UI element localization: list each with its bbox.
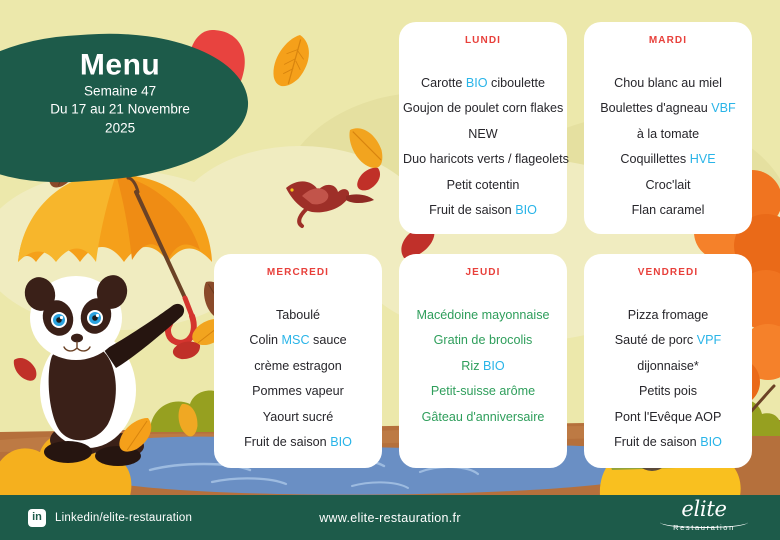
menu-item-label: Gratin de brocolis bbox=[434, 333, 533, 347]
menu-item-label-highlight: BIO bbox=[515, 203, 537, 217]
menu-item: dijonnaise* bbox=[584, 353, 752, 379]
elite-logo: elite Restauration bbox=[650, 499, 758, 537]
footer-bar: in Linkedin/elite-restauration www.elite… bbox=[0, 495, 780, 540]
menu-item-label: Coquillettes bbox=[620, 152, 689, 166]
menu-item-label: Sauté de porc bbox=[615, 333, 697, 347]
logo-swash-icon bbox=[660, 516, 748, 528]
menu-item-label: Macédoine mayonnaise bbox=[416, 308, 549, 322]
menu-item-label: Chou blanc au miel bbox=[614, 76, 722, 90]
menu-item-label: Fruit de saison bbox=[429, 203, 515, 217]
menu-item-label: Taboulé bbox=[276, 308, 320, 322]
day-items: TabouléColin MSC saucecrème estragonPomm… bbox=[214, 302, 382, 456]
menu-date-range: Du 17 au 21 Novembre bbox=[5, 101, 235, 120]
menu-item-label: Yaourt sucré bbox=[263, 410, 333, 424]
day-title: MERCREDI bbox=[267, 267, 329, 278]
menu-item-label: Petit cotentin bbox=[447, 178, 520, 192]
day-title: MARDI bbox=[649, 35, 687, 46]
menu-item: à la tomate bbox=[584, 121, 752, 147]
menu-item: Colin MSC sauce bbox=[214, 328, 382, 354]
menu-item: Yaourt sucré bbox=[214, 404, 382, 430]
menu-item-label-highlight: MSC bbox=[282, 333, 310, 347]
day-items: Macédoine mayonnaiseGratin de brocolisRi… bbox=[399, 302, 567, 430]
menu-item: Pizza fromage bbox=[584, 302, 752, 328]
menu-item-label: Colin bbox=[249, 333, 281, 347]
menu-item-label: Petits pois bbox=[639, 384, 697, 398]
menu-item: Fruit de saison BIO bbox=[214, 430, 382, 456]
menu-item: Carotte BIO ciboulette bbox=[399, 70, 567, 96]
menu-item: Goujon de poulet corn flakes bbox=[399, 96, 567, 122]
menu-item: Coquillettes HVE bbox=[584, 147, 752, 173]
menu-item: Macédoine mayonnaise bbox=[399, 302, 567, 328]
menu-item-label-highlight: BIO bbox=[483, 359, 505, 373]
menu-item: Croc'lait bbox=[584, 172, 752, 198]
menu-item: Sauté de porc VPF bbox=[584, 328, 752, 354]
day-card-vendredi: VENDREDI Pizza fromageSauté de porc VPFd… bbox=[584, 254, 752, 468]
day-card-mardi: MARDI Chou blanc au mielBoulettes d'agne… bbox=[584, 22, 752, 234]
menu-item: Chou blanc au miel bbox=[584, 70, 752, 96]
menu-poster: Menu Semaine 47 Du 17 au 21 Novembre 202… bbox=[0, 0, 780, 540]
menu-item: crème estragon bbox=[214, 353, 382, 379]
menu-item-label: Croc'lait bbox=[645, 178, 690, 192]
day-card-mercredi: MERCREDI TabouléColin MSC saucecrème est… bbox=[214, 254, 382, 468]
menu-item-label: Riz bbox=[461, 359, 483, 373]
menu-item-label: Boulettes d'agneau bbox=[600, 101, 711, 115]
menu-item-label: sauce bbox=[310, 333, 347, 347]
menu-item: Pont l'Evêque AOP bbox=[584, 404, 752, 430]
day-items: Chou blanc au mielBoulettes d'agneau VBF… bbox=[584, 70, 752, 224]
menu-year: 2025 bbox=[5, 119, 235, 138]
menu-item: Fruit de saison BIO bbox=[399, 198, 567, 224]
menu-item-label: Fruit de saison bbox=[244, 435, 330, 449]
menu-item: Gâteau d'anniversaire bbox=[399, 404, 567, 430]
menu-item: Duo haricots verts / flageolets bbox=[399, 147, 567, 173]
menu-item-label: Goujon de poulet corn flakes bbox=[403, 101, 563, 115]
menu-item-label: dijonnaise* bbox=[637, 359, 699, 373]
menu-item: NEW bbox=[399, 121, 567, 147]
day-title: JEUDI bbox=[466, 267, 501, 278]
menu-item-label-highlight: HVE bbox=[690, 152, 716, 166]
day-title: VENDREDI bbox=[638, 267, 698, 278]
menu-item-label: NEW bbox=[468, 127, 497, 141]
menu-item: Petit-suisse arôme bbox=[399, 379, 567, 405]
menu-item-label: Duo haricots verts / flageolets bbox=[403, 152, 569, 166]
menu-week: Semaine 47 bbox=[5, 82, 235, 101]
menu-item-label: Carotte bbox=[421, 76, 466, 90]
day-title: LUNDI bbox=[465, 35, 501, 46]
menu-item-label: à la tomate bbox=[637, 127, 699, 141]
menu-item: Riz BIO bbox=[399, 353, 567, 379]
menu-item-label: Flan caramel bbox=[632, 203, 705, 217]
menu-item-label-highlight: VPF bbox=[697, 333, 722, 347]
menu-item-label: Pont l'Evêque AOP bbox=[615, 410, 722, 424]
day-card-lundi: LUNDI Carotte BIO cibouletteGoujon de po… bbox=[399, 22, 567, 234]
page-title: Menu bbox=[5, 48, 235, 82]
menu-item: Pommes vapeur bbox=[214, 379, 382, 405]
menu-item: Petits pois bbox=[584, 379, 752, 405]
menu-item: Petit cotentin bbox=[399, 172, 567, 198]
menu-item: Taboulé bbox=[214, 302, 382, 328]
menu-item-label-highlight: BIO bbox=[466, 76, 488, 90]
menu-item-label: ciboulette bbox=[488, 76, 545, 90]
menu-item-label: Gâteau d'anniversaire bbox=[422, 410, 545, 424]
day-card-jeudi: JEUDI Macédoine mayonnaiseGratin de broc… bbox=[399, 254, 567, 468]
day-items: Carotte BIO cibouletteGoujon de poulet c… bbox=[399, 70, 567, 224]
menu-item-label: Pizza fromage bbox=[628, 308, 709, 322]
menu-item-label-highlight: BIO bbox=[330, 435, 352, 449]
menu-item: Flan caramel bbox=[584, 198, 752, 224]
menu-item: Boulettes d'agneau VBF bbox=[584, 96, 752, 122]
menu-item: Fruit de saison BIO bbox=[584, 430, 752, 456]
menu-item-label: crème estragon bbox=[254, 359, 342, 373]
menu-item-label: Pommes vapeur bbox=[252, 384, 344, 398]
menu-item-label-highlight: VBF bbox=[711, 101, 736, 115]
menu-item-label: Fruit de saison bbox=[614, 435, 700, 449]
menu-item-label: Petit-suisse arôme bbox=[431, 384, 535, 398]
day-items: Pizza fromageSauté de porc VPFdijonnaise… bbox=[584, 302, 752, 456]
menu-item: Gratin de brocolis bbox=[399, 328, 567, 354]
menu-item-label-highlight: BIO bbox=[700, 435, 722, 449]
